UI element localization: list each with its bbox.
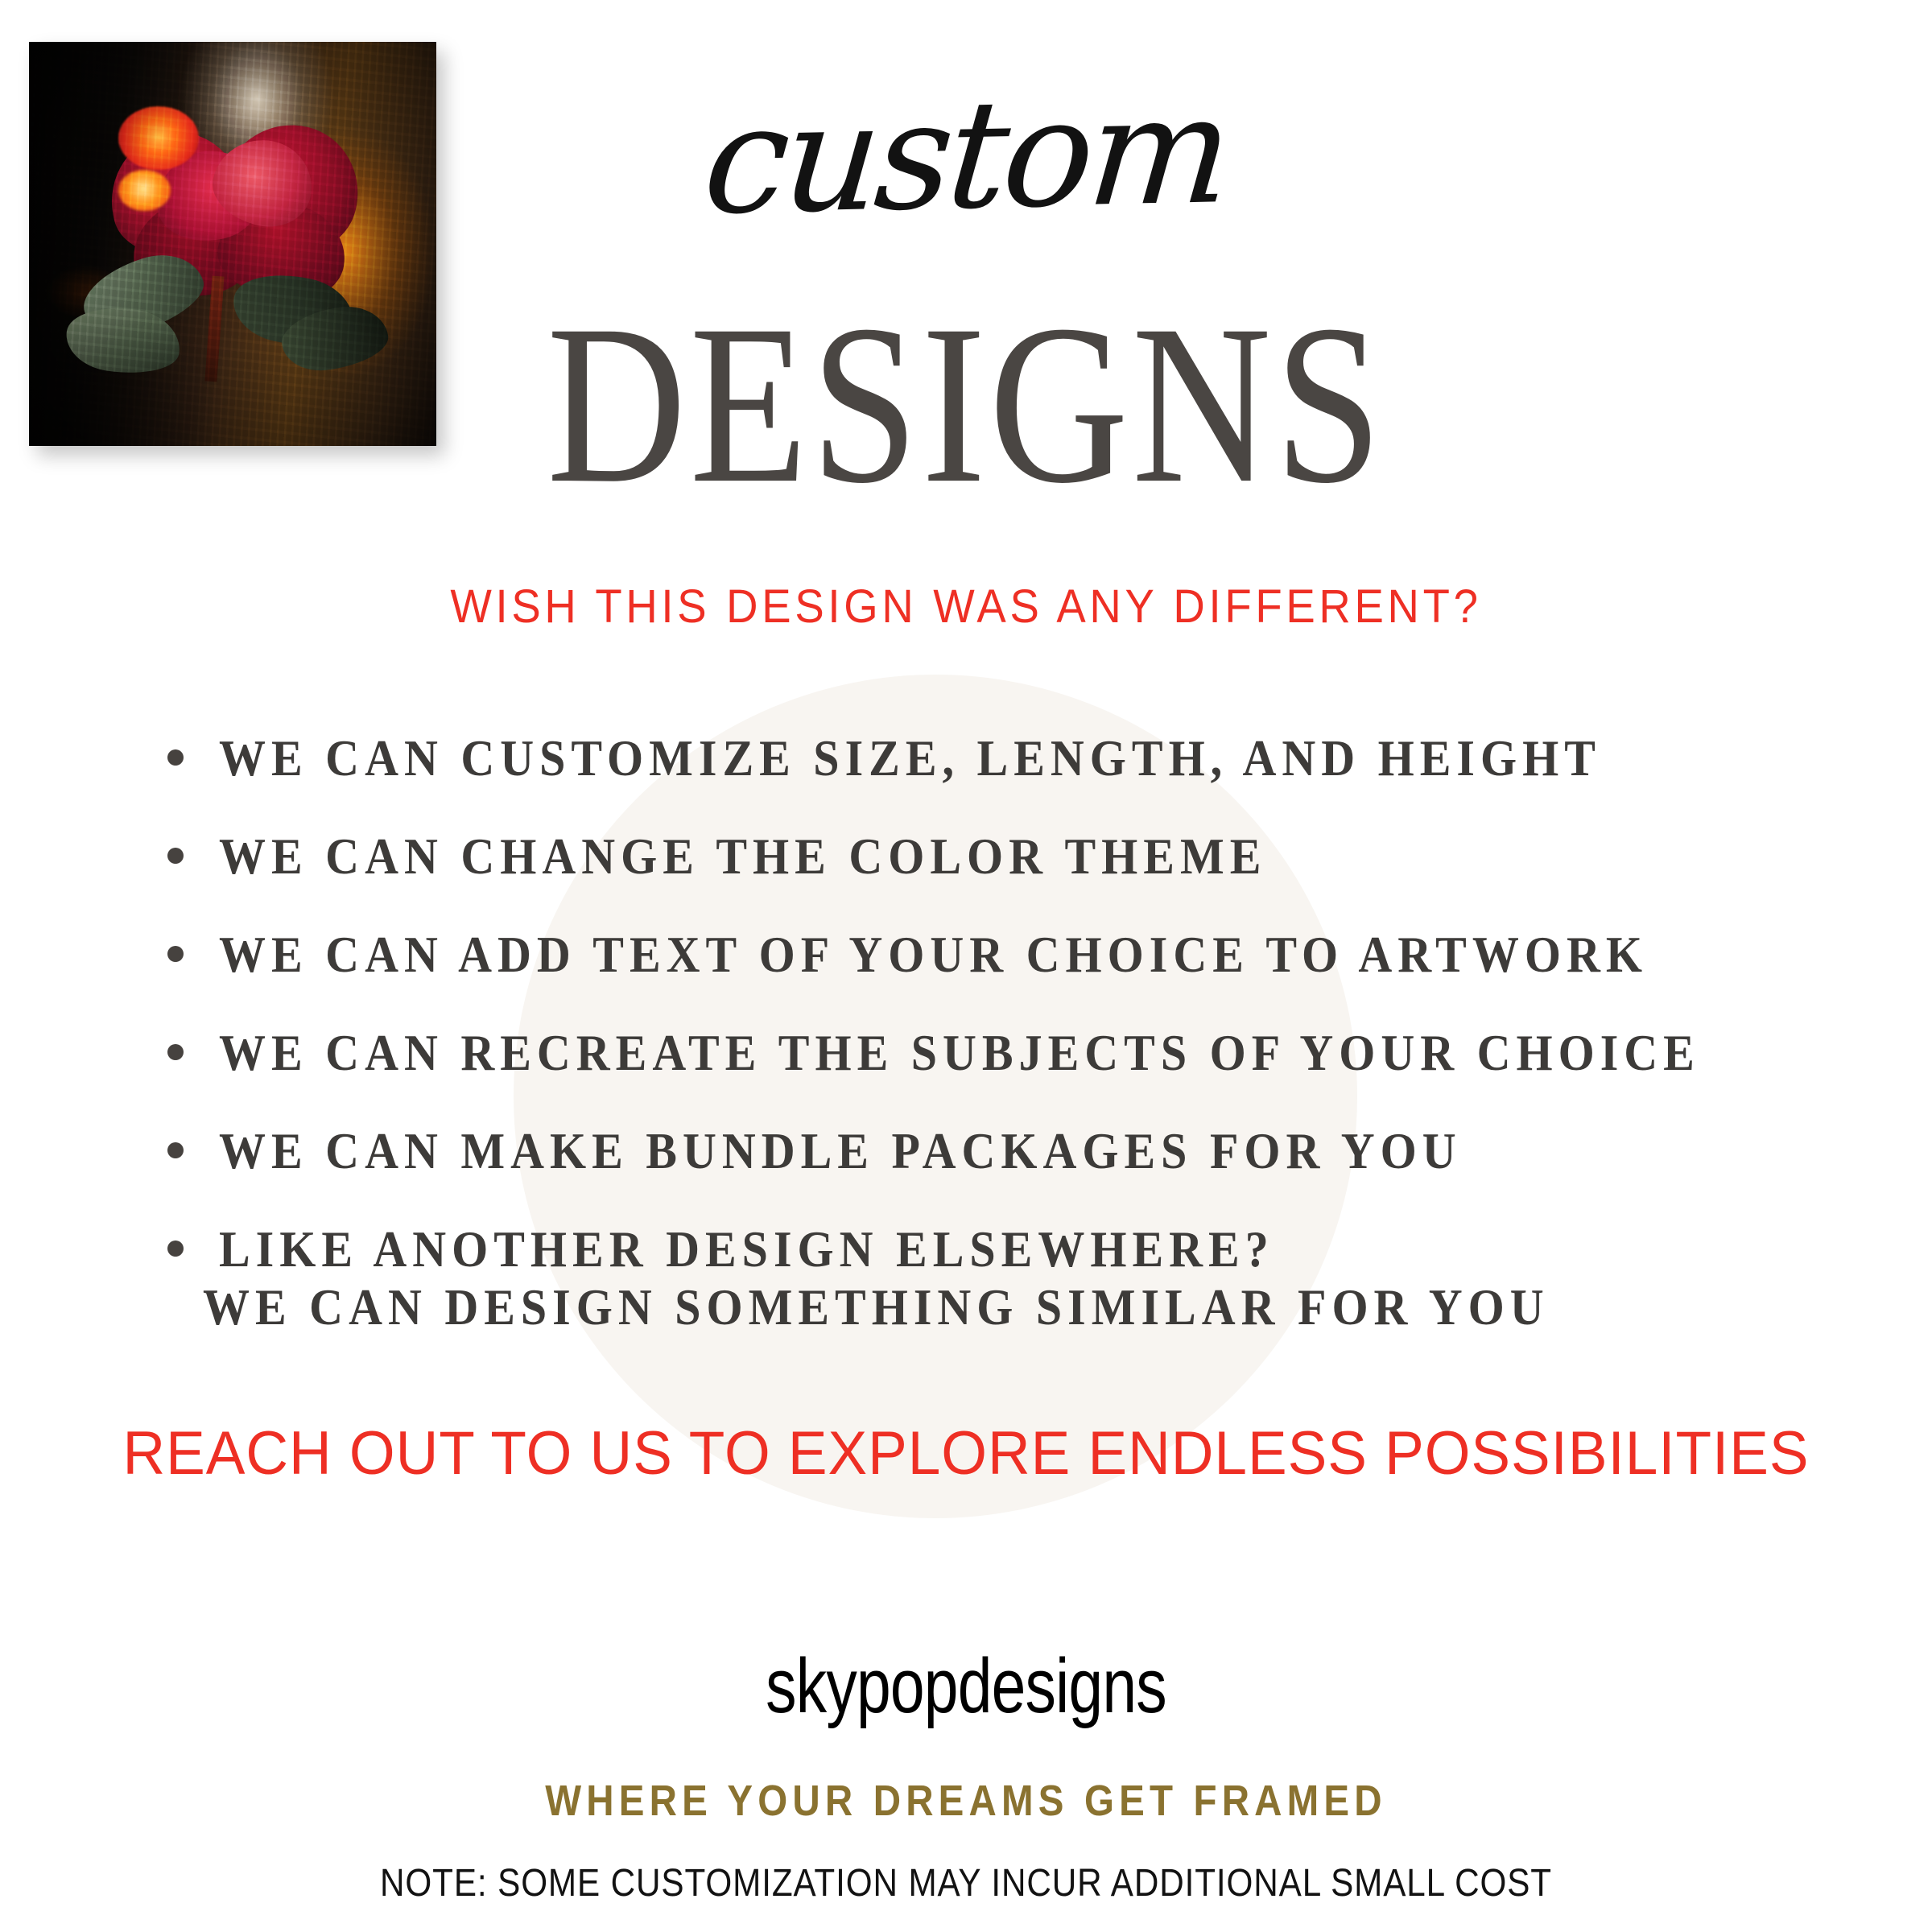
list-item: WE CAN ADD TEXT OF YOUR CHOICE TO ARTWOR… xyxy=(161,905,1819,1003)
bullet-dot-icon xyxy=(167,749,184,766)
list-item-label: WE CAN MAKE BUNDLE PACKAGES FOR YOU xyxy=(219,1121,1462,1180)
bullet-dot-icon xyxy=(167,1142,184,1158)
bullet-dot-icon xyxy=(167,1044,184,1060)
list-continuation-label: WE CAN DESIGN SOMETHING SIMILAR FOR YOU xyxy=(203,1278,1550,1337)
list-item: WE CAN CUSTOMIZE SIZE, LENGTH, AND HEIGH… xyxy=(161,708,1819,807)
bullet-dot-icon xyxy=(167,946,184,962)
page-title: DESIGNS xyxy=(0,290,1932,518)
brand-tagline: WHERE YOUR DREAMS GET FRAMED xyxy=(116,1776,1816,1826)
custom-designs-poster: custom DESIGNS WISH THIS DESIGN WAS ANY … xyxy=(0,0,1932,1932)
fine-print-note: NOTE: SOME CUSTOMIZATION MAY INCUR ADDIT… xyxy=(116,1861,1816,1905)
list-item-label: WE CAN CHANGE THE COLOR THEME xyxy=(219,826,1266,885)
list-item-label: WE CAN RECREATE THE SUBJECTS OF YOUR CHO… xyxy=(219,1022,1700,1082)
bullet-dot-icon xyxy=(167,848,184,864)
list-item: WE CAN CHANGE THE COLOR THEME xyxy=(161,807,1819,905)
feature-list: WE CAN CUSTOMIZE SIZE, LENGTH, AND HEIGH… xyxy=(161,708,1819,1298)
list-item-label: WE CAN CUSTOMIZE SIZE, LENGTH, AND HEIGH… xyxy=(219,728,1601,787)
subheadline-question: WISH THIS DESIGN WAS ANY DIFFERENT? xyxy=(58,580,1874,634)
list-item-label: WE CAN ADD TEXT OF YOUR CHOICE TO ARTWOR… xyxy=(219,924,1648,984)
list-item: WE CAN RECREATE THE SUBJECTS OF YOUR CHO… xyxy=(161,1003,1819,1101)
bullet-dot-icon xyxy=(167,1241,184,1257)
brand-logo-wordmark: skypopdesigns xyxy=(193,1642,1739,1731)
list-item: WE CAN MAKE BUNDLE PACKAGES FOR YOU xyxy=(161,1101,1819,1199)
call-to-action-text: REACH OUT TO US TO EXPLORE ENDLESS POSSI… xyxy=(39,1418,1893,1488)
list-item-label: LIKE ANOTHER DESIGN ELSEWHERE? xyxy=(219,1219,1274,1278)
